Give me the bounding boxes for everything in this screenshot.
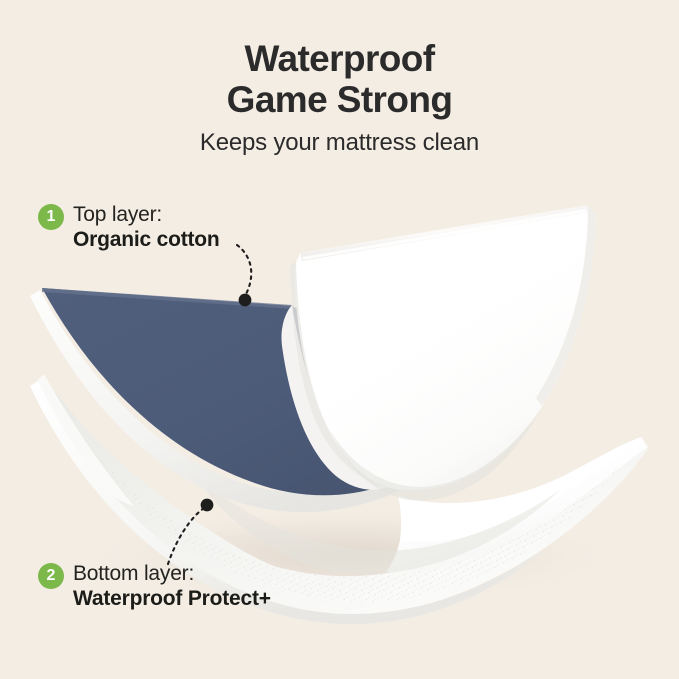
- callout-top-text: Top layer: Organic cotton: [73, 202, 220, 253]
- callout-top-value: Organic cotton: [73, 227, 220, 253]
- callout-bottom-text: Bottom layer: Waterproof Protect+: [73, 561, 271, 612]
- callout-top-layer: 1 Top layer: Organic cotton: [38, 202, 220, 253]
- title-line-1: Waterproof: [0, 38, 679, 79]
- subtitle: Keeps your mattress clean: [0, 129, 679, 157]
- leader-line-top: [237, 245, 251, 296]
- callout-bottom-layer: 2 Bottom layer: Waterproof Protect+: [38, 561, 271, 612]
- badge-number-2: 2: [38, 563, 64, 589]
- callout-bottom-lead: Bottom layer:: [73, 561, 271, 586]
- leader-dot-top: [239, 294, 252, 307]
- heading-block: Waterproof Game Strong Keeps your mattre…: [0, 38, 679, 157]
- infographic-canvas: Waterproof Game Strong Keeps your mattre…: [0, 0, 679, 679]
- leader-dot-bottom: [201, 499, 214, 512]
- badge-number-1: 1: [38, 204, 64, 230]
- callout-top-lead: Top layer:: [73, 202, 220, 227]
- title-line-2: Game Strong: [0, 79, 679, 120]
- callout-bottom-value: Waterproof Protect+: [73, 586, 271, 612]
